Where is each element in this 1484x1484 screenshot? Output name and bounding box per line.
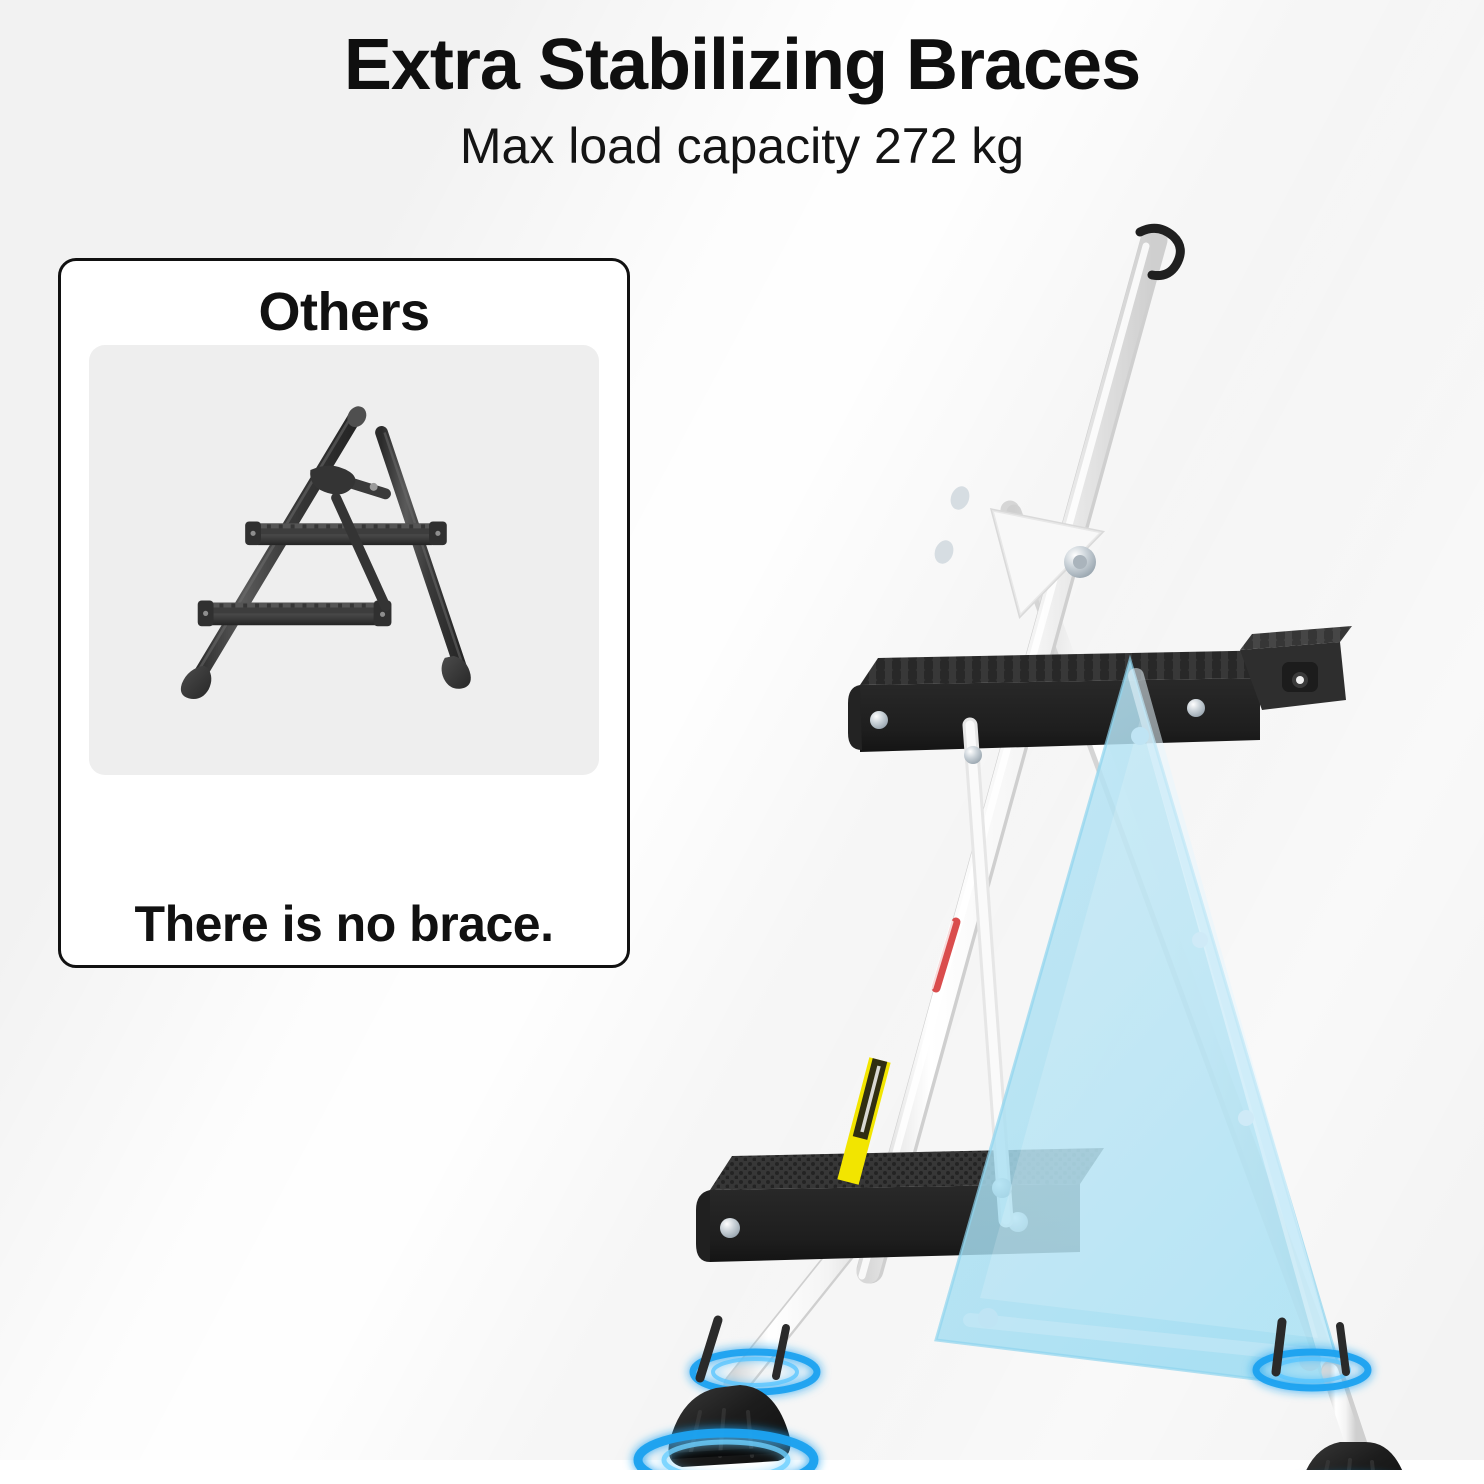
competitor-rear-strut bbox=[336, 498, 385, 607]
competitor-front-rail bbox=[181, 403, 370, 699]
front-right-foot bbox=[1299, 1442, 1408, 1470]
upper-step bbox=[848, 626, 1352, 752]
competitor-ladder-illustration bbox=[89, 345, 599, 775]
comparison-product-photo bbox=[89, 345, 599, 775]
main-product-image bbox=[540, 180, 1470, 1470]
page-title: Extra Stabilizing Braces bbox=[0, 26, 1484, 105]
competitor-lower-step bbox=[198, 601, 392, 627]
competitor-hinge-bracket bbox=[310, 466, 385, 495]
main-ladder-illustration bbox=[540, 180, 1470, 1470]
page-subtitle: Max load capacity 272 kg bbox=[0, 118, 1484, 176]
competitor-rear-leg bbox=[382, 433, 471, 689]
front-left-foot bbox=[669, 1385, 791, 1467]
product-feature-graphic: Extra Stabilizing Braces Max load capaci… bbox=[0, 0, 1484, 1484]
